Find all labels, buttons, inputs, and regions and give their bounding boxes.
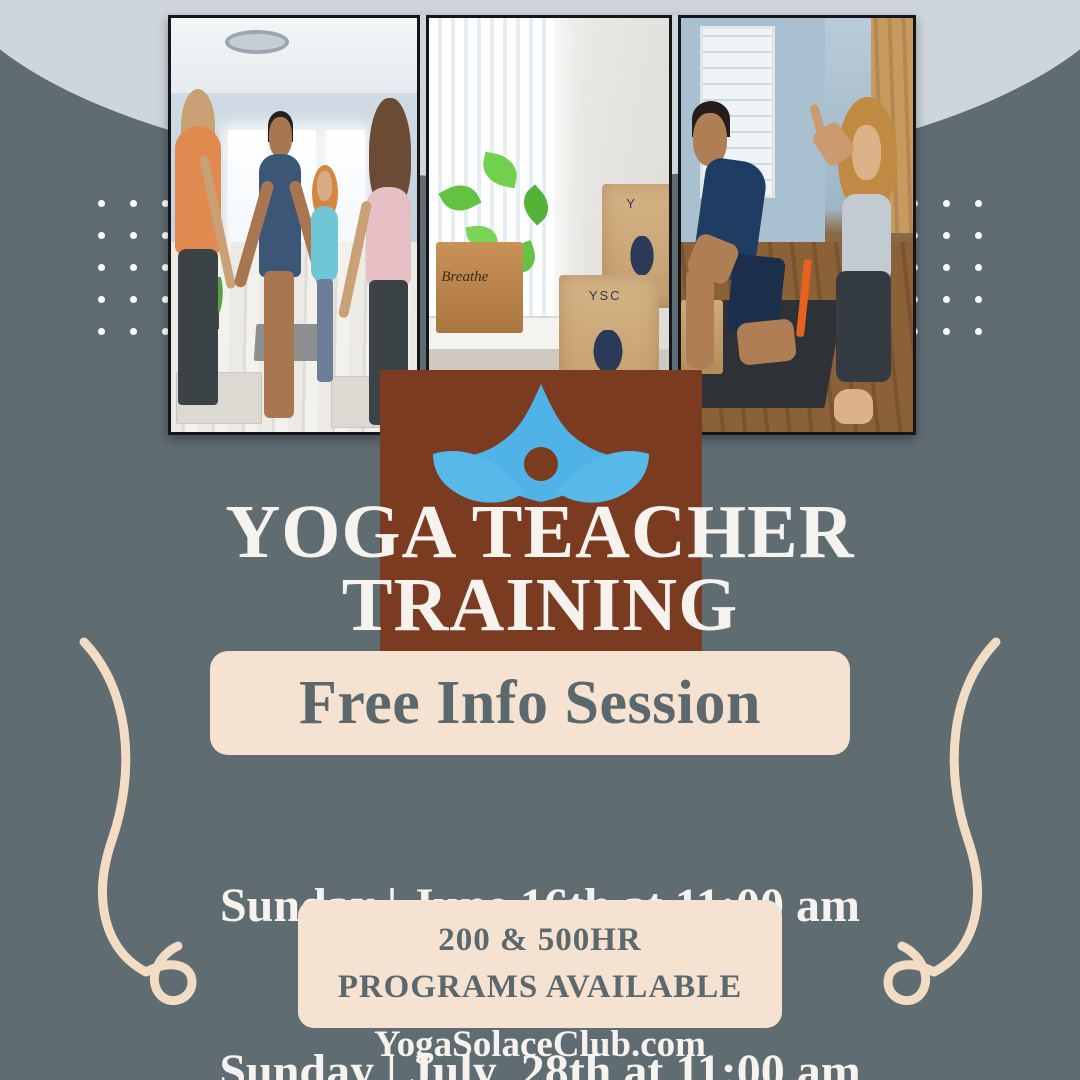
headline-line-1: YOGA TEACHER <box>225 490 854 574</box>
programs-banner: 200 & 500HR PROGRAMS AVAILABLE <box>298 900 782 1028</box>
poster-canvas: Breathe Y YSC <box>0 0 1080 1080</box>
website-url[interactable]: YogaSolaceClub.com <box>0 1023 1080 1066</box>
programs-line-1: 200 & 500HR <box>438 922 642 959</box>
breathe-label: Breathe <box>441 269 488 286</box>
headline-line-2: TRAINING <box>0 569 1080 642</box>
session-banner: Free Info Session <box>210 651 850 755</box>
session-banner-label: Free Info Session <box>299 668 761 739</box>
breathe-planter-box: Breathe <box>436 242 522 333</box>
block-label-front: YSC <box>589 288 622 303</box>
programs-line-2: PROGRAMS AVAILABLE <box>338 969 743 1006</box>
block-label-back: Y <box>626 196 637 211</box>
photo-instructor-assist <box>678 15 916 435</box>
page-title: YOGA TEACHER TRAINING <box>0 496 1080 642</box>
